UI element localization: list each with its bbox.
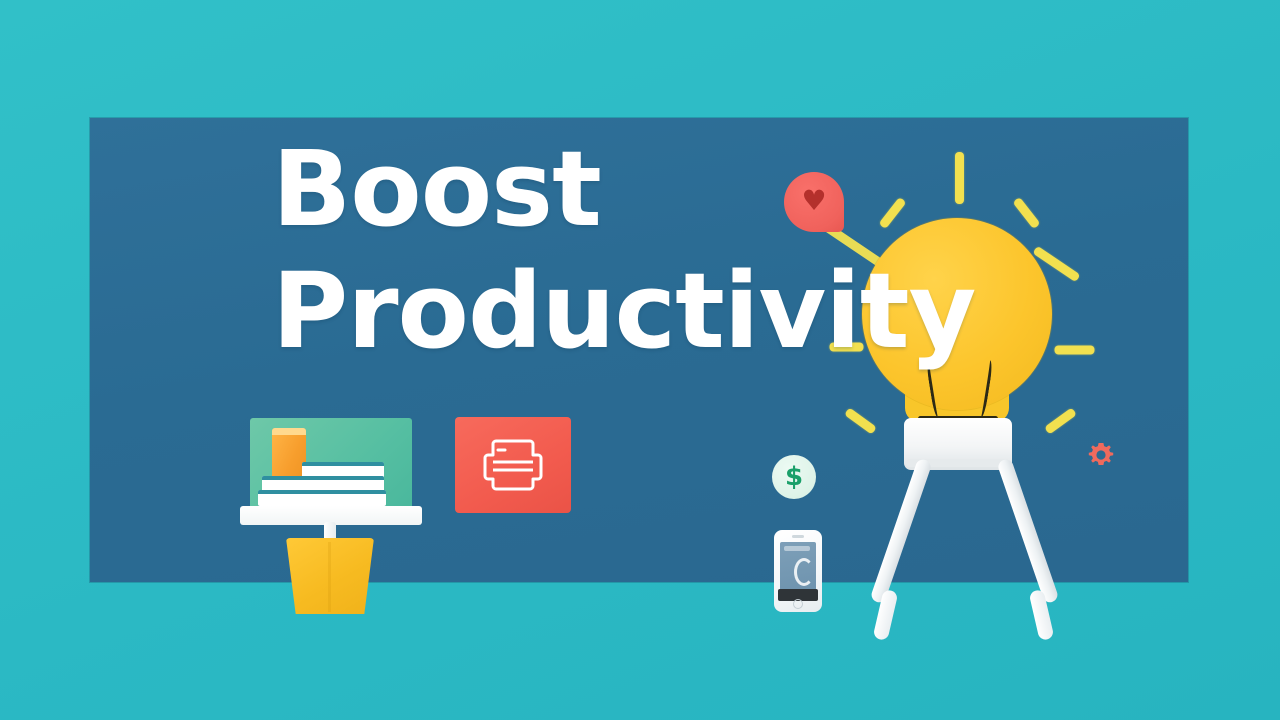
phone-home-button xyxy=(793,599,803,609)
cup-icon xyxy=(272,428,306,480)
bulb-leg xyxy=(870,458,933,605)
heart-glyph: ♥ xyxy=(801,187,826,215)
bulb-glass xyxy=(862,218,1052,410)
phone-screen xyxy=(780,542,816,592)
book-spine xyxy=(258,490,386,494)
heart-bubble-icon: ♥ xyxy=(784,172,844,232)
desk-workstation-icon xyxy=(236,418,426,618)
printer-tile xyxy=(455,417,571,513)
book-item xyxy=(258,490,386,506)
book-spine xyxy=(262,476,384,480)
smartphone-icon xyxy=(774,530,822,612)
poster-canvas: $ ♥ Boost Productivity xyxy=(0,0,1280,720)
book-spine xyxy=(302,462,384,466)
bulb-leg xyxy=(996,458,1059,605)
waste-bin-icon xyxy=(286,538,374,614)
phone-speaker xyxy=(792,535,804,538)
light-bulb-icon xyxy=(800,150,1130,620)
printer-icon xyxy=(482,438,544,492)
